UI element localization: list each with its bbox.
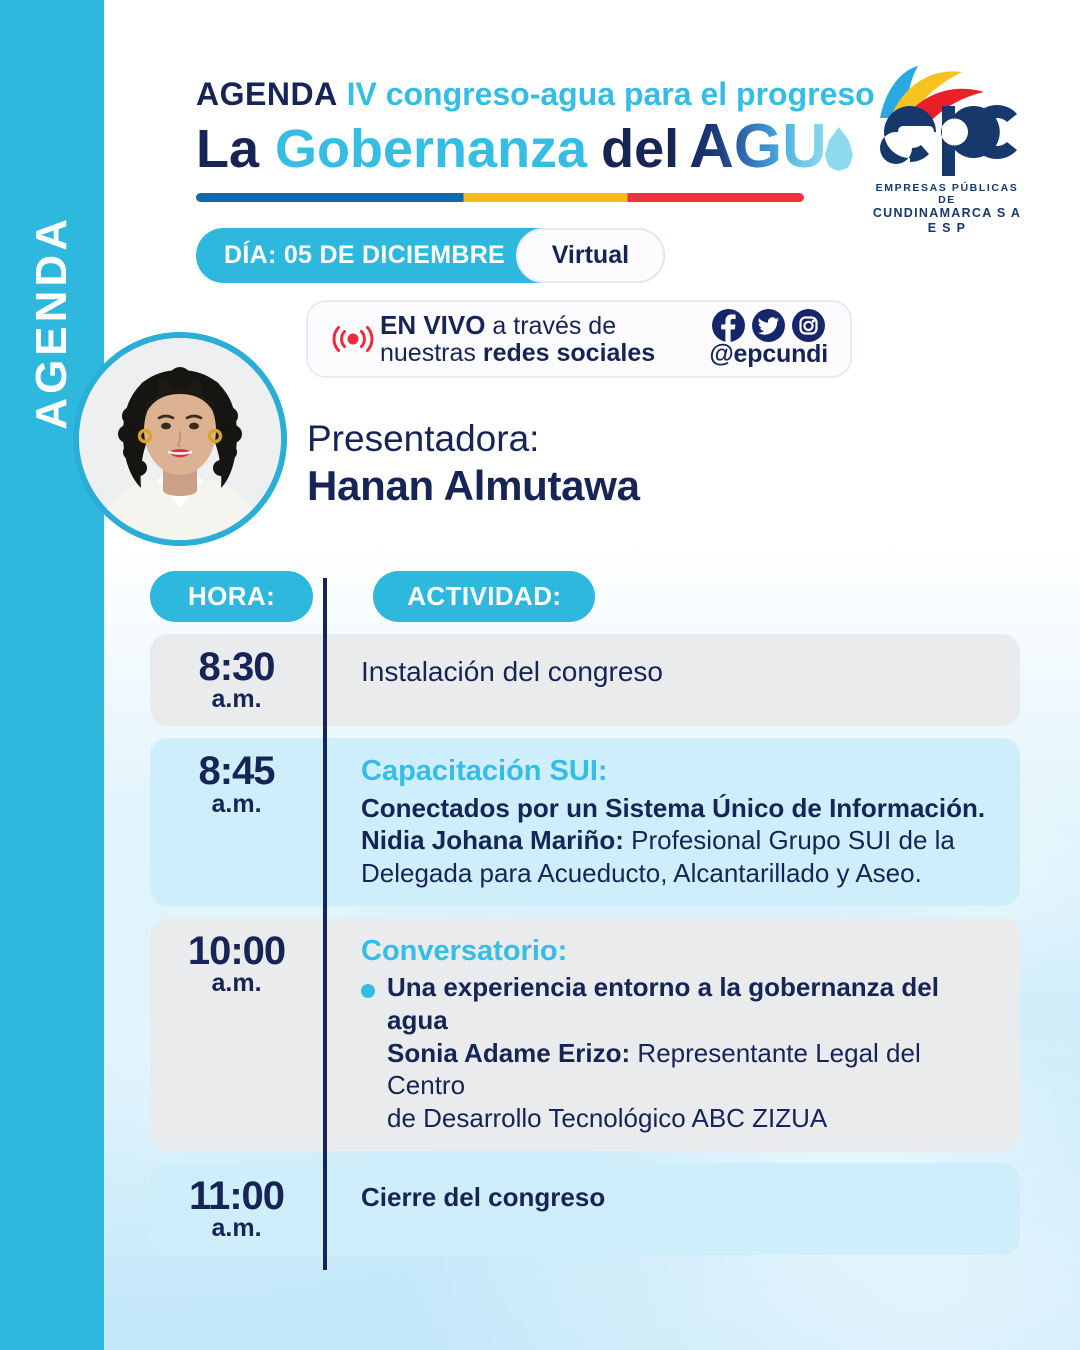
bullet-icon (361, 984, 375, 998)
facebook-icon[interactable] (712, 309, 745, 342)
tricolor-divider (196, 193, 804, 202)
live-rest: a través de (485, 312, 616, 340)
presenter-label: Presentadora: (307, 418, 640, 461)
row-time: 11:00 a.m. (150, 1163, 323, 1255)
row-activity: Capacitación SUI: Conectados por un Sist… (323, 738, 1020, 905)
row-activity: Conversatorio: Una experiencia entorno a… (323, 918, 1020, 1151)
title-line-1: AGENDA IV congreso-agua para el progreso (196, 78, 856, 110)
row-activity: Instalación del congreso (323, 634, 1020, 705)
live-text: EN VIVO a través de nuestras redes socia… (380, 311, 655, 367)
modality-badge: Virtual (516, 228, 665, 283)
row-time: 10:00 a.m. (150, 918, 323, 1010)
row-activity-title: Capacitación SUI: (361, 754, 998, 788)
live-line2-bold: redes sociales (483, 339, 655, 367)
row-time-meridiem: a.m. (150, 792, 323, 817)
agenda-header-row: HORA: ACTIVIDAD: (150, 570, 1020, 622)
row-speaker-name: Nidia Johana Mariño: (361, 825, 624, 855)
title-agu: AGU (689, 114, 827, 179)
table-row: 11:00 a.m. Cierre del congreso (150, 1163, 1020, 1255)
row-activity-bullet-text: Una experiencia entorno a la gobernanza … (387, 971, 939, 1004)
row-time: 8:45 a.m. (150, 738, 323, 830)
twitter-icon[interactable] (752, 309, 785, 342)
water-drop-icon (825, 127, 853, 171)
title-la: La (196, 121, 259, 178)
column-header-activity: ACTIVIDAD: (373, 571, 595, 622)
date-row: DÍA: 05 DE DICIEMBRE Virtual (196, 228, 665, 283)
presenter-block: Presentadora: Hanan Almutawa (307, 418, 640, 511)
row-time-value: 10:00 (150, 932, 323, 970)
row-activity-speaker-line: Sonia Adame Erizo: Representante Legal d… (361, 1037, 998, 1103)
header: AGENDA IV congreso-agua para el progreso… (196, 78, 856, 202)
row-activity-speaker-line2: de Desarrollo Tecnológico ABC ZIZUA (361, 1102, 998, 1135)
title-agenda: AGENDA (196, 76, 338, 112)
table-row: 8:45 a.m. Capacitación SUI: Conectados p… (150, 738, 1020, 905)
row-time-value: 11:00 (150, 1177, 323, 1215)
row-speaker-name: Sonia Adame Erizo: (387, 1038, 630, 1068)
row-activity-speaker-line2: Delegada para Acueducto, Alcantarillado … (361, 857, 998, 890)
presenter-photo (73, 332, 287, 546)
column-header-time: HORA: (150, 571, 313, 622)
epc-logo-mark (866, 62, 1028, 180)
row-activity: Cierre del congreso (323, 1163, 1020, 1230)
epc-logo: EMPRESAS PÚBLICAS DE CUNDINAMARCA S A E … (866, 62, 1028, 212)
live-line2-plain: nuestras (380, 339, 483, 367)
live-line-1: EN VIVO a través de (380, 311, 655, 340)
social-handle: @epcundi (709, 340, 828, 369)
live-broadcast-icon (330, 322, 376, 356)
left-rail: AGENDA (0, 0, 104, 1350)
row-activity-speaker-line: Nidia Johana Mariño: Profesional Grupo S… (361, 824, 998, 857)
row-activity-bullet-line: Una experiencia entorno a la gobernanza … (361, 971, 998, 1004)
socials: @epcundi (709, 309, 828, 369)
row-time-value: 8:30 (150, 648, 323, 686)
row-time-meridiem: a.m. (150, 687, 323, 712)
agenda-table: HORA: ACTIVIDAD: 8:30 a.m. Instalación d… (150, 570, 1020, 1255)
row-time: 8:30 a.m. (150, 634, 323, 726)
social-icon-row (709, 309, 828, 342)
table-row: 8:30 a.m. Instalación del congreso (150, 634, 1020, 726)
title-line-2: La Gobernanza del AGU (196, 114, 856, 179)
logo-subtitle-2: CUNDINAMARCA S A E S P (866, 206, 1028, 235)
row-speaker-role: Profesional Grupo SUI de la (624, 825, 955, 855)
row-time-value: 8:45 (150, 752, 323, 790)
row-activity-text: Cierre del congreso (361, 1181, 998, 1214)
row-activity-text: Conectados por un Sistema Único de Infor… (361, 792, 998, 825)
live-banner: EN VIVO a través de nuestras redes socia… (306, 300, 852, 378)
table-divider-line (323, 578, 327, 1270)
logo-subtitle-1: EMPRESAS PÚBLICAS DE (866, 182, 1028, 206)
presenter-portrait (79, 338, 281, 540)
row-activity-title: Conversatorio: (361, 934, 998, 968)
live-line-2: nuestras redes sociales (380, 340, 655, 367)
rail-label-agenda: AGENDA (27, 215, 77, 430)
table-row: 10:00 a.m. Conversatorio: Una experienci… (150, 918, 1020, 1151)
row-time-meridiem: a.m. (150, 1216, 323, 1241)
row-activity-text: Instalación del congreso (361, 654, 998, 689)
title-congress: IV congreso-agua para el progreso (347, 76, 875, 112)
presenter-name: Hanan Almutawa (307, 461, 640, 511)
row-time-meridiem: a.m. (150, 971, 323, 996)
instagram-icon[interactable] (792, 309, 825, 342)
row-activity-bullet-text-2: agua (361, 1004, 998, 1037)
live-bold: EN VIVO (380, 310, 485, 340)
title-del: del (601, 121, 679, 178)
title-gobernanza: Gobernanza (275, 121, 587, 178)
